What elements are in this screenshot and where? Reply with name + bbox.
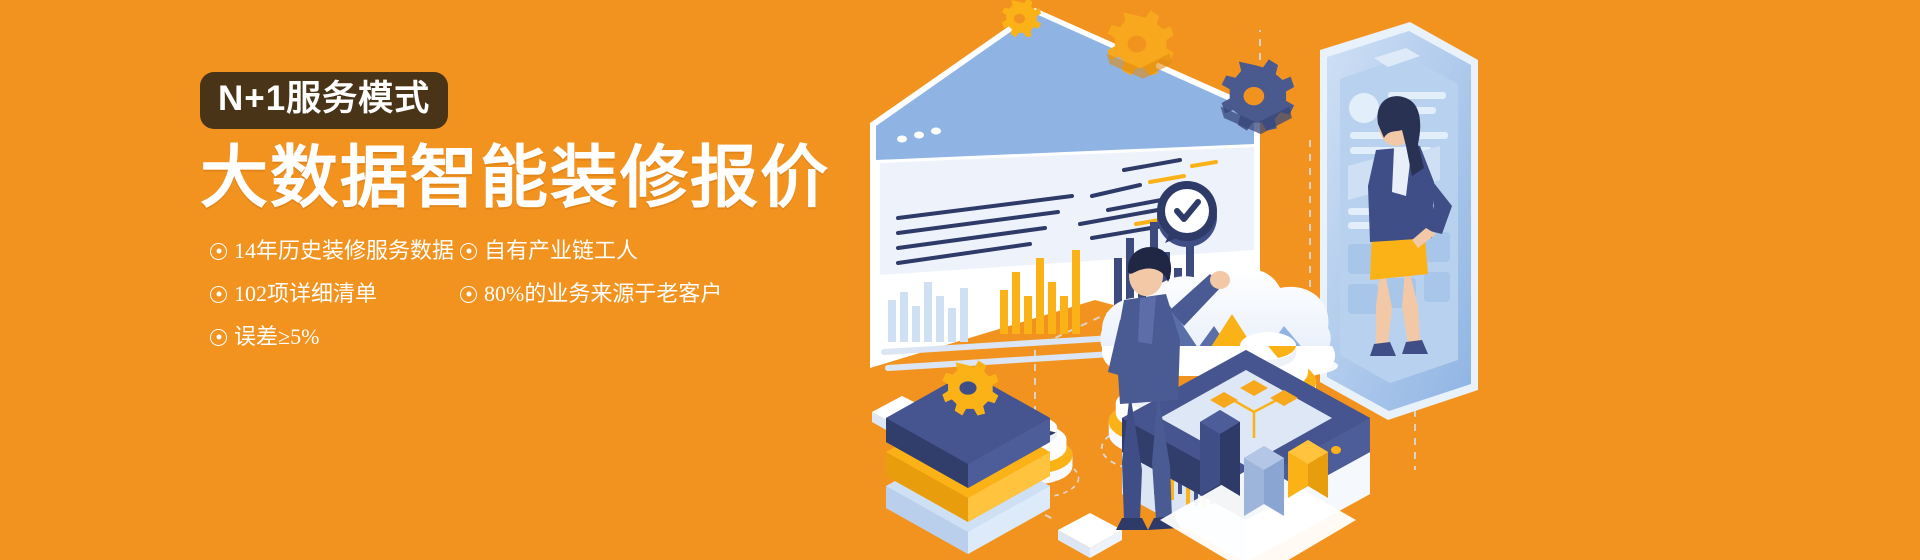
bullet-label: 自有产业链工人 bbox=[484, 240, 638, 262]
bullet-label: 102项详细清单 bbox=[234, 283, 377, 305]
bullet-column-left: 14年历史装修服务数据 102项详细清单 误差≥5% bbox=[210, 240, 454, 369]
target-dot-icon bbox=[210, 329, 227, 346]
list-item: 误差≥5% bbox=[210, 326, 454, 348]
bullet-label: 80%的业务来源于老客户 bbox=[484, 283, 722, 305]
isometric-illustration bbox=[840, 0, 1920, 560]
target-dot-icon bbox=[210, 243, 227, 260]
bullet-column-right: 自有产业链工人 80%的业务来源于老客户 bbox=[460, 240, 722, 326]
list-item: 102项详细清单 bbox=[210, 283, 454, 305]
page-title: 大数据智能装修报价 bbox=[200, 143, 880, 214]
bullet-label: 14年历史装修服务数据 bbox=[234, 240, 454, 262]
promo-banner: N+1服务模式 大数据智能装修报价 14年历史装修服务数据 102项详细清单 误… bbox=[0, 0, 1920, 560]
target-dot-icon bbox=[210, 286, 227, 303]
list-item: 自有产业链工人 bbox=[460, 240, 722, 262]
service-model-badge: N+1服务模式 bbox=[200, 72, 448, 129]
target-dot-icon bbox=[460, 243, 477, 260]
list-item: 80%的业务来源于老客户 bbox=[460, 283, 722, 305]
bullet-label: 误差≥5% bbox=[234, 326, 319, 348]
floating-tile bbox=[1058, 513, 1122, 558]
list-item: 14年历史装修服务数据 bbox=[210, 240, 454, 262]
database-stack-gear bbox=[886, 360, 1050, 554]
copy-block: N+1服务模式 大数据智能装修报价 14年历史装修服务数据 102项详细清单 误… bbox=[200, 72, 880, 240]
check-badge-icon bbox=[1157, 181, 1217, 247]
target-dot-icon bbox=[460, 286, 477, 303]
